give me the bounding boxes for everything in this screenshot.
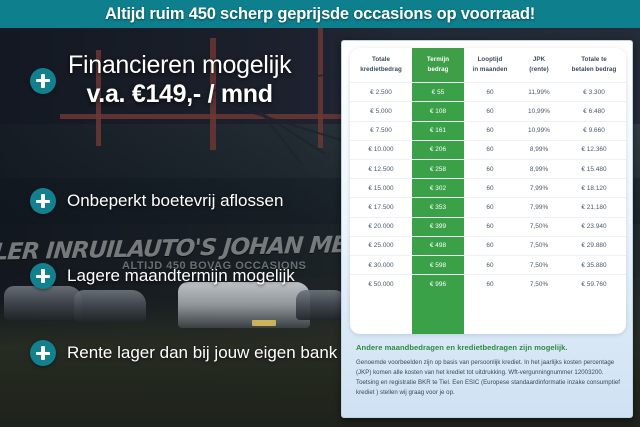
cell-krediet: € 30.000 (350, 255, 412, 274)
cell-totaal: € 6.480 (562, 102, 626, 121)
cell-jkp: 7,50% (516, 275, 562, 294)
cell-totaal: € 12.360 (562, 140, 626, 159)
table-row: € 30.000€ 598607,50%€ 35.880 (350, 255, 626, 274)
column-header-jkp: JPK (rente) (516, 48, 562, 83)
cell-looptijd: 60 (464, 159, 516, 178)
cell-termijn: € 55 (412, 83, 464, 102)
cell-looptijd: 60 (464, 83, 516, 102)
cell-totaal: € 21.180 (562, 198, 626, 217)
column-header-totaal: Totale te betalen bedrag (562, 48, 626, 83)
cell-looptijd: 60 (464, 102, 516, 121)
table-row: € 25.000€ 498607,50%€ 29.880 (350, 236, 626, 255)
column-header-termijn: Termijn bedrag (412, 48, 464, 83)
table-row: € 12.500€ 258608,99%€ 15.480 (350, 159, 626, 178)
rates-table: Totale kredietbedrag Termijn bedrag Loop… (350, 48, 626, 293)
cell-termijn: € 302 (412, 179, 464, 198)
cell-termijn: € 598 (412, 255, 464, 274)
cell-looptijd: 60 (464, 275, 516, 294)
financing-headline-line1: Financieren mogelijk (68, 52, 291, 79)
cell-krediet: € 17.500 (350, 198, 412, 217)
rates-table-card: Totale kredietbedrag Termijn bedrag Loop… (350, 48, 626, 334)
cell-krediet: € 12.500 (350, 159, 412, 178)
cell-termijn: € 161 (412, 121, 464, 140)
table-row: € 7.500€ 1616010,99%€ 9.660 (350, 121, 626, 140)
cell-krediet: € 50.000 (350, 275, 412, 294)
cell-termijn: € 108 (412, 102, 464, 121)
cell-looptijd: 60 (464, 236, 516, 255)
cell-jkp: 7,99% (516, 198, 562, 217)
column-header-looptijd: Looptijd in maanden (464, 48, 516, 83)
footer-heading: Andere maandbedragen en kredietbedragen … (356, 343, 620, 352)
cell-termijn: € 498 (412, 236, 464, 255)
feature-financing-headline: Financieren mogelijk v.a. €149,- / mnd (30, 52, 344, 110)
cell-jkp: 8,99% (516, 140, 562, 159)
table-header-row: Totale kredietbedrag Termijn bedrag Loop… (350, 48, 626, 83)
cell-looptijd: 60 (464, 255, 516, 274)
table-row: € 50.000€ 996607,50%€ 59.760 (350, 275, 626, 294)
cell-jkp: 7,50% (516, 236, 562, 255)
cell-totaal: € 29.880 (562, 236, 626, 255)
cell-krediet: € 15.000 (350, 179, 412, 198)
cell-krediet: € 5.000 (350, 102, 412, 121)
table-row: € 20.000€ 399607,50%€ 23.940 (350, 217, 626, 236)
cell-jkp: 7,50% (516, 217, 562, 236)
footer-disclaimer: Genoemde voorbeelden zijn op basis van p… (356, 358, 620, 397)
cell-totaal: € 9.660 (562, 121, 626, 140)
table-row: € 2.500€ 556011,99%€ 3.300 (350, 83, 626, 102)
cell-termijn: € 206 (412, 140, 464, 159)
cell-termijn: € 996 (412, 275, 464, 294)
promo-banner-image: LER INRUILAUTO'S JOHAN MEURE ALTIJD 450 … (0, 0, 640, 427)
cell-krediet: € 7.500 (350, 121, 412, 140)
cell-krediet: € 10.000 (350, 140, 412, 159)
cell-jkp: 8,99% (516, 159, 562, 178)
cell-jkp: 10,99% (516, 121, 562, 140)
table-row: € 15.000€ 302607,99%€ 18.120 (350, 179, 626, 198)
plus-circle-icon (30, 188, 56, 214)
table-row: € 10.000€ 206608,99%€ 12.360 (350, 140, 626, 159)
cell-looptijd: 60 (464, 121, 516, 140)
cell-looptijd: 60 (464, 179, 516, 198)
rates-table-body: € 2.500€ 556011,99%€ 3.300€ 5.000€ 10860… (350, 83, 626, 294)
top-banner-text: Altijd ruim 450 scherp geprijsde occasio… (105, 5, 535, 24)
feature-item-lower-interest: Rente lager dan bij jouw eigen bank (30, 340, 337, 366)
feature-item-lower-monthly: Lagere maandtermijn mogelijk (30, 263, 295, 289)
cell-jkp: 11,99% (516, 83, 562, 102)
cell-termijn: € 399 (412, 217, 464, 236)
cell-looptijd: 60 (464, 140, 516, 159)
plus-circle-icon (30, 340, 56, 366)
cell-totaal: € 15.480 (562, 159, 626, 178)
table-row: € 17.500€ 353607,99%€ 21.180 (350, 198, 626, 217)
financing-headline-line2: v.a. €149,- / mnd (68, 79, 291, 110)
cell-termijn: € 258 (412, 159, 464, 178)
cell-totaal: € 35.880 (562, 255, 626, 274)
top-banner: Altijd ruim 450 scherp geprijsde occasio… (0, 0, 640, 28)
cell-totaal: € 59.760 (562, 275, 626, 294)
feature-item-label: Lagere maandtermijn mogelijk (67, 266, 295, 286)
cell-totaal: € 23.940 (562, 217, 626, 236)
cell-krediet: € 20.000 (350, 217, 412, 236)
cell-jkp: 10,99% (516, 102, 562, 121)
cell-jkp: 7,50% (516, 255, 562, 274)
cell-krediet: € 25.000 (350, 236, 412, 255)
table-row: € 5.000€ 1086010,99%€ 6.480 (350, 102, 626, 121)
cell-totaal: € 3.300 (562, 83, 626, 102)
feature-item-label: Rente lager dan bij jouw eigen bank (67, 343, 337, 363)
feature-list: Financieren mogelijk v.a. €149,- / mnd O… (0, 28, 344, 427)
column-header-krediet: Totale kredietbedrag (350, 48, 412, 83)
financing-info-panel: Totale kredietbedrag Termijn bedrag Loop… (341, 40, 633, 418)
feature-item-label: Onbeperkt boetevrij aflossen (67, 191, 283, 211)
panel-footer: Andere maandbedragen en kredietbedragen … (356, 343, 620, 397)
cell-looptijd: 60 (464, 198, 516, 217)
plus-circle-icon (30, 68, 56, 94)
cell-krediet: € 2.500 (350, 83, 412, 102)
plus-circle-icon (30, 263, 56, 289)
cell-looptijd: 60 (464, 217, 516, 236)
feature-item-early-repayment: Onbeperkt boetevrij aflossen (30, 188, 283, 214)
cell-totaal: € 18.120 (562, 179, 626, 198)
cell-termijn: € 353 (412, 198, 464, 217)
cell-jkp: 7,99% (516, 179, 562, 198)
